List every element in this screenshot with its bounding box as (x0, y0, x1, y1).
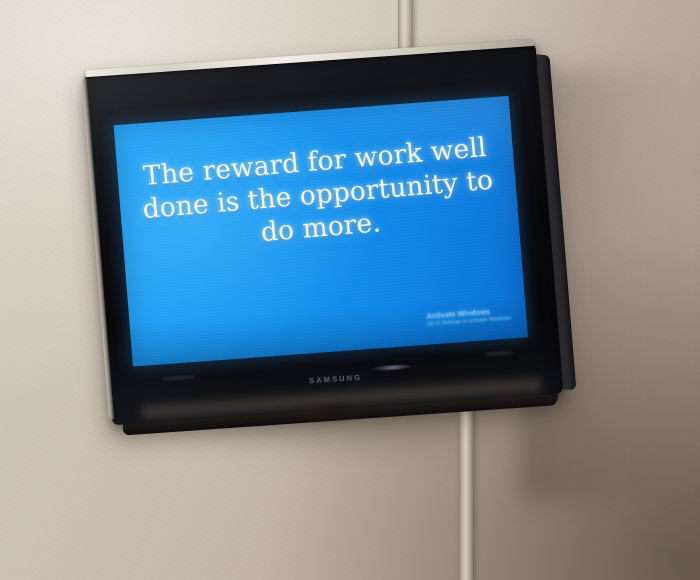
bezel-reflection-left (161, 375, 195, 380)
tv-bezel: The reward for work well done is the opp… (84, 43, 563, 425)
television: The reward for work well done is the opp… (84, 43, 563, 425)
cable-conduit-below-tv (459, 400, 473, 580)
wall-mount-bracket (295, 401, 375, 432)
photo-scene: The reward for work well done is the opp… (0, 0, 700, 580)
tv-screen[interactable]: The reward for work well done is the opp… (114, 96, 528, 367)
brand-logo: SAMSUNG (309, 373, 363, 386)
bezel-reflection-right (484, 351, 514, 356)
quote-text: The reward for work well done is the opp… (128, 131, 508, 261)
ir-sensor (371, 364, 413, 371)
windows-activation-watermark: Activate Windows Go to Settings to activ… (426, 305, 513, 328)
